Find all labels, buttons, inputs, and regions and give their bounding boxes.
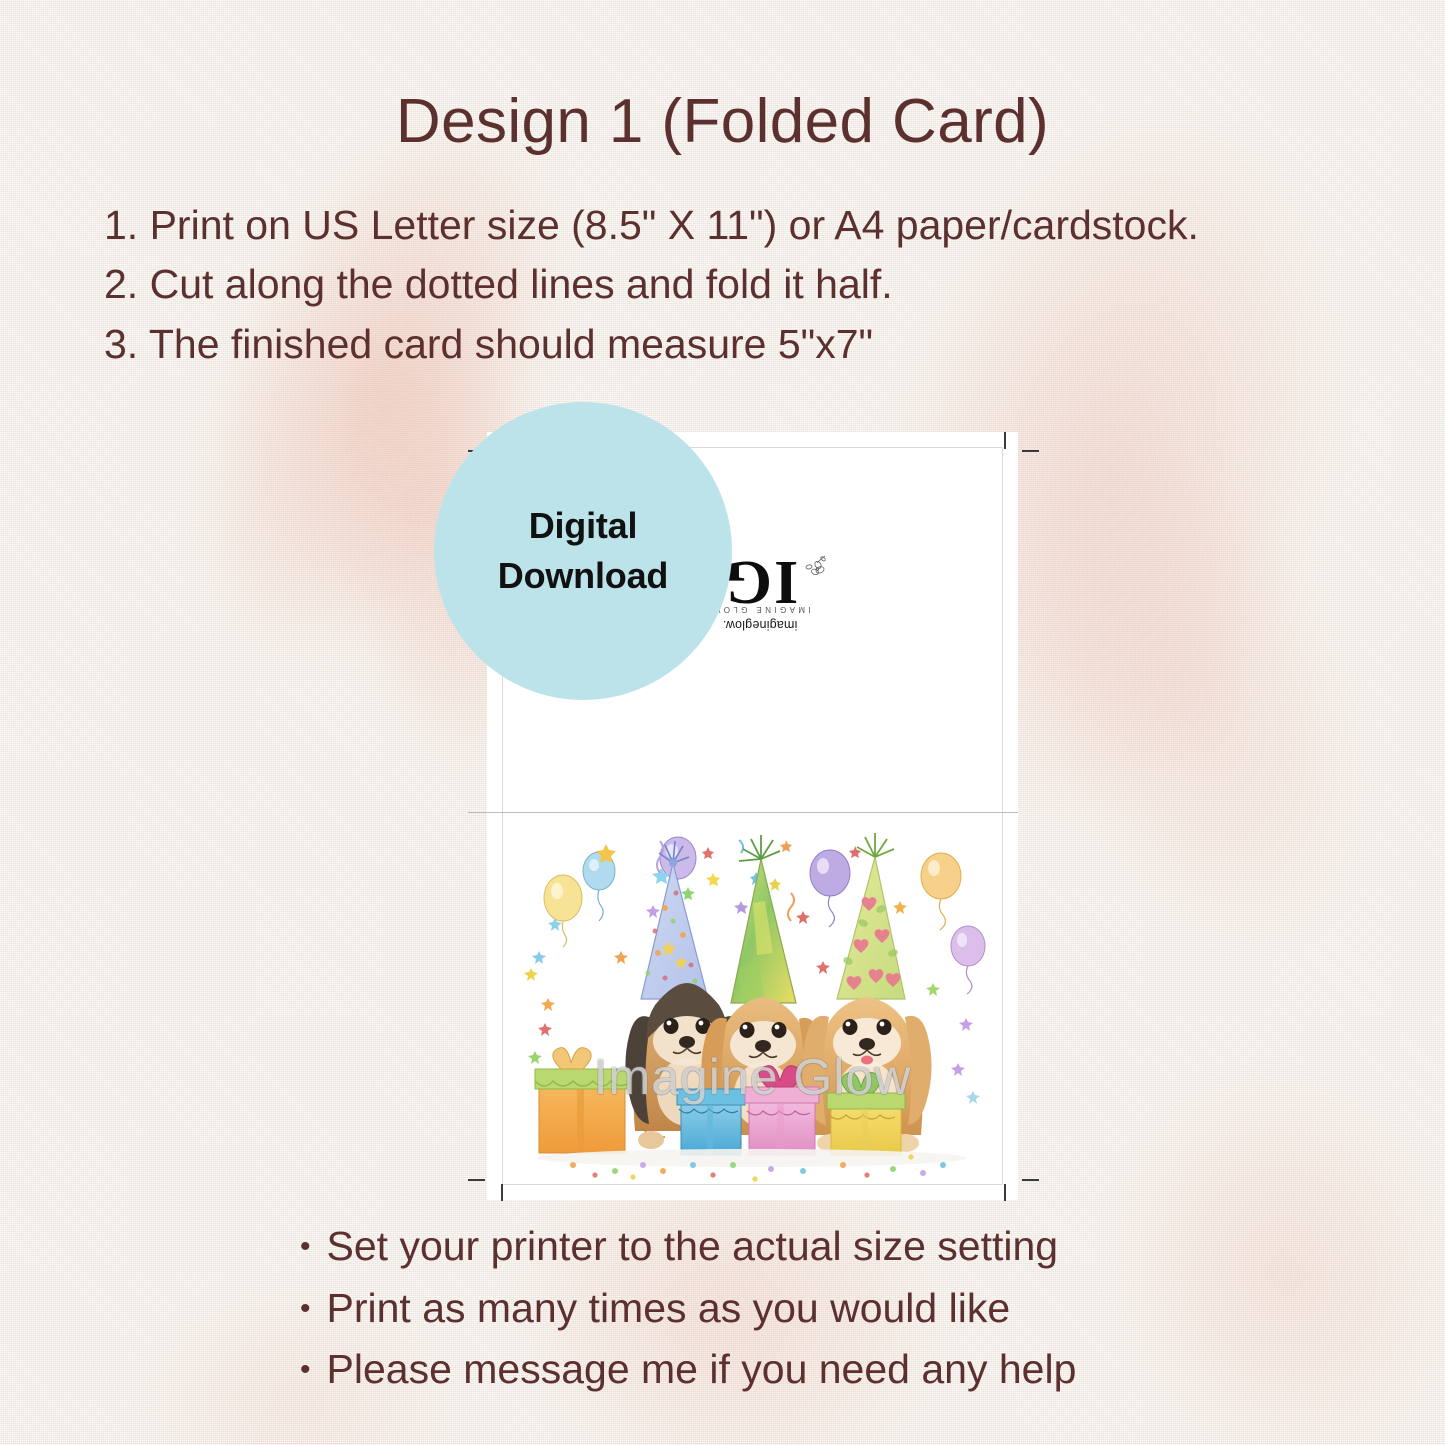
poster-canvas: Design 1 (Folded Card) 1. Print on US Le…: [0, 0, 1445, 1445]
crop-mark-bottom-right: [1004, 1184, 1006, 1201]
crop-mark-bottom-left: [468, 1179, 485, 1181]
crop-mark-top-right: [1022, 450, 1039, 452]
digital-download-badge: Digital Download: [434, 402, 732, 700]
card-illustration: [503, 813, 1002, 1184]
note-item-label: Print as many times as you would like: [327, 1278, 1011, 1340]
note-item: • Set your printer to the actual size se…: [300, 1216, 1300, 1278]
note-item: • Print as many times as you would like: [300, 1278, 1300, 1340]
note-item: • Please message me if you need any help: [300, 1339, 1300, 1401]
instruction-step-3: 3. The finished card should measure 5"x7…: [104, 315, 1394, 374]
crop-mark-top-right: [1004, 432, 1006, 449]
instruction-step-2: 2. Cut along the dotted lines and fold i…: [104, 255, 1394, 314]
bullet-dot-icon: •: [300, 1294, 311, 1324]
bullet-dot-icon: •: [300, 1232, 311, 1262]
crop-mark-bottom-right: [1022, 1179, 1039, 1181]
bullet-dot-icon: •: [300, 1355, 311, 1385]
notes-list: • Set your printer to the actual size se…: [300, 1216, 1300, 1401]
note-item-label: Set your printer to the actual size sett…: [327, 1216, 1059, 1278]
crop-mark-bottom-left: [501, 1184, 503, 1201]
badge-line-1: Digital: [529, 508, 638, 544]
note-item-label: Please message me if you need any help: [327, 1339, 1077, 1401]
page-title: Design 1 (Folded Card): [0, 86, 1445, 157]
instruction-step-1: 1. Print on US Letter size (8.5" X 11") …: [104, 196, 1394, 255]
flower-sprig-icon: [799, 544, 829, 603]
brand-monogram-text: IG: [722, 548, 798, 616]
petal-shadow: [954, 393, 1427, 988]
badge-line-2: Download: [498, 558, 668, 594]
instruction-list: 1. Print on US Letter size (8.5" X 11") …: [104, 196, 1394, 374]
